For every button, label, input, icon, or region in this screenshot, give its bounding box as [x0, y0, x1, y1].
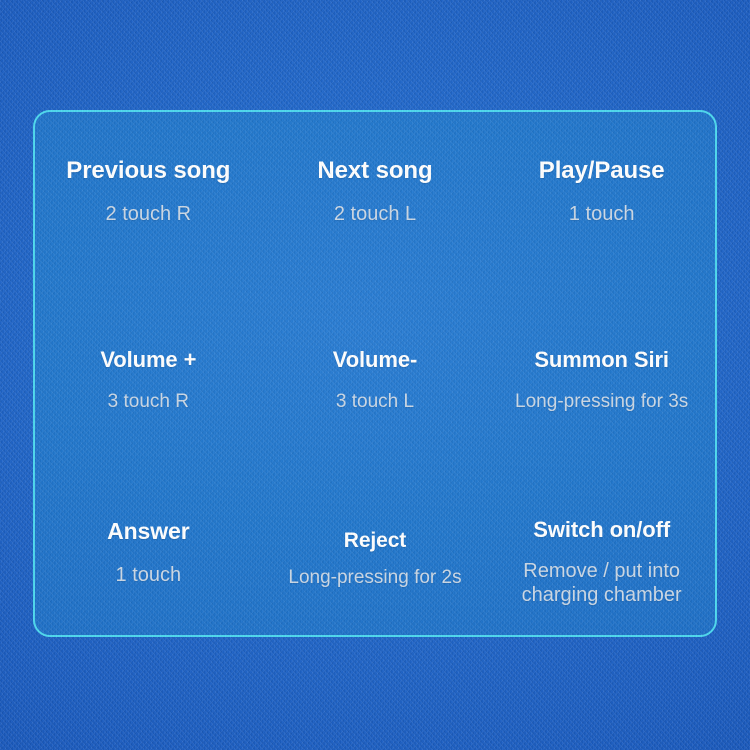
- gesture-title: Volume-: [333, 347, 417, 373]
- gesture-action: 1 touch: [116, 563, 182, 587]
- gesture-cell-summon-siri: Summon Siri Long-pressing for 3s: [488, 286, 715, 460]
- gesture-title: Next song: [317, 157, 432, 185]
- gesture-action: Remove / put into charging chamber: [499, 559, 704, 608]
- gesture-grid: Previous song 2 touch R Next song 2 touc…: [35, 112, 715, 635]
- gesture-title: Answer: [107, 518, 189, 545]
- gesture-title: Play/Pause: [539, 157, 665, 185]
- gesture-cell-previous-song: Previous song 2 touch R: [35, 112, 262, 286]
- gesture-title: Volume +: [100, 347, 196, 373]
- gesture-cell-volume-down: Volume- 3 touch L: [262, 286, 489, 460]
- gesture-title: Summon Siri: [534, 347, 669, 373]
- gesture-title: Reject: [344, 529, 406, 553]
- gesture-action: 3 touch L: [336, 390, 414, 413]
- gesture-cell-answer: Answer 1 touch: [35, 461, 262, 635]
- gesture-cell-reject: Reject Long-pressing for 2s: [262, 461, 489, 635]
- gesture-action: 2 touch L: [334, 202, 416, 226]
- gesture-card: Previous song 2 touch R Next song 2 touc…: [33, 110, 717, 637]
- gesture-guide-poster: Previous song 2 touch R Next song 2 touc…: [0, 0, 750, 750]
- gesture-title: Switch on/off: [533, 517, 670, 543]
- gesture-action: 1 touch: [569, 202, 635, 226]
- gesture-action: Long-pressing for 2s: [288, 566, 461, 589]
- gesture-cell-play-pause: Play/Pause 1 touch: [488, 112, 715, 286]
- gesture-action: 2 touch R: [106, 202, 192, 226]
- gesture-cell-next-song: Next song 2 touch L: [262, 112, 489, 286]
- gesture-action: 3 touch R: [108, 390, 189, 413]
- gesture-action: Long-pressing for 3s: [515, 390, 688, 413]
- gesture-cell-switch-on-off: Switch on/off Remove / put into charging…: [488, 461, 715, 635]
- gesture-cell-volume-up: Volume + 3 touch R: [35, 286, 262, 460]
- gesture-title: Previous song: [66, 157, 230, 185]
